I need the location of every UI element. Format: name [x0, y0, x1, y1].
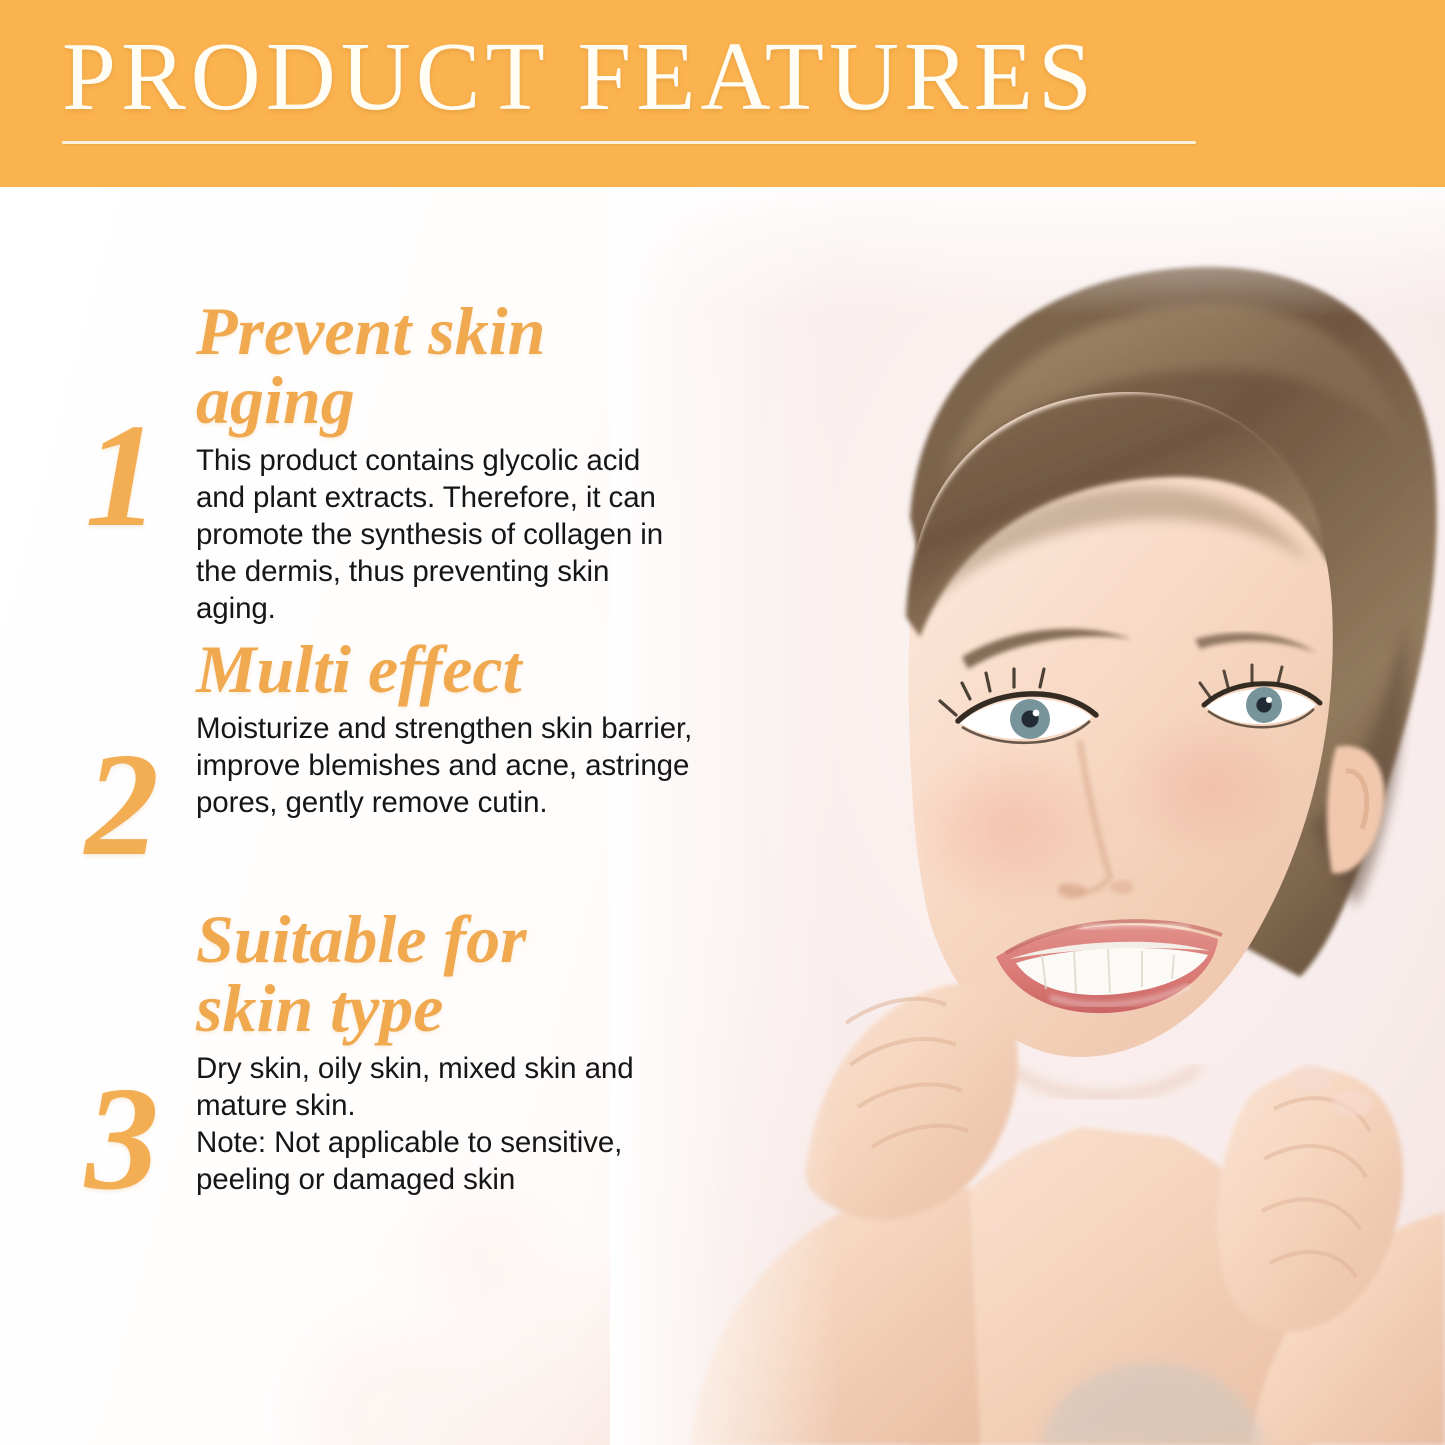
feature-number-1: 1 [62, 402, 182, 550]
feature-title-1: Prevent skin aging [196, 297, 696, 436]
feature-text-3: Dry skin, oily skin, mixed skin and matu… [196, 1050, 696, 1198]
feature-body-2: Multi effect Moisturize and strengthen s… [196, 635, 696, 821]
feature-number-2: 2 [62, 731, 182, 879]
feature-number-3: 3 [62, 1065, 182, 1213]
feature-text-2: Moisturize and strengthen skin barrier, … [196, 710, 696, 821]
feature-list: 1 Prevent skin aging This product contai… [0, 187, 760, 1445]
page-title: PRODUCT FEATURES [62, 28, 1097, 125]
header-underline-rule [62, 141, 1196, 144]
feature-text-1: This product contains glycolic acid and … [196, 442, 696, 627]
feature-body-3: Suitable for skin type Dry skin, oily sk… [196, 905, 696, 1198]
feature-body-1: Prevent skin aging This product contains… [196, 297, 696, 627]
product-features-infographic: PRODUCT FEATURES 1 Prevent skin aging Th… [0, 0, 1445, 1445]
feature-title-3: Suitable for skin type [196, 905, 696, 1044]
feature-title-2: Multi effect [196, 635, 696, 704]
header-band: PRODUCT FEATURES [0, 0, 1445, 187]
